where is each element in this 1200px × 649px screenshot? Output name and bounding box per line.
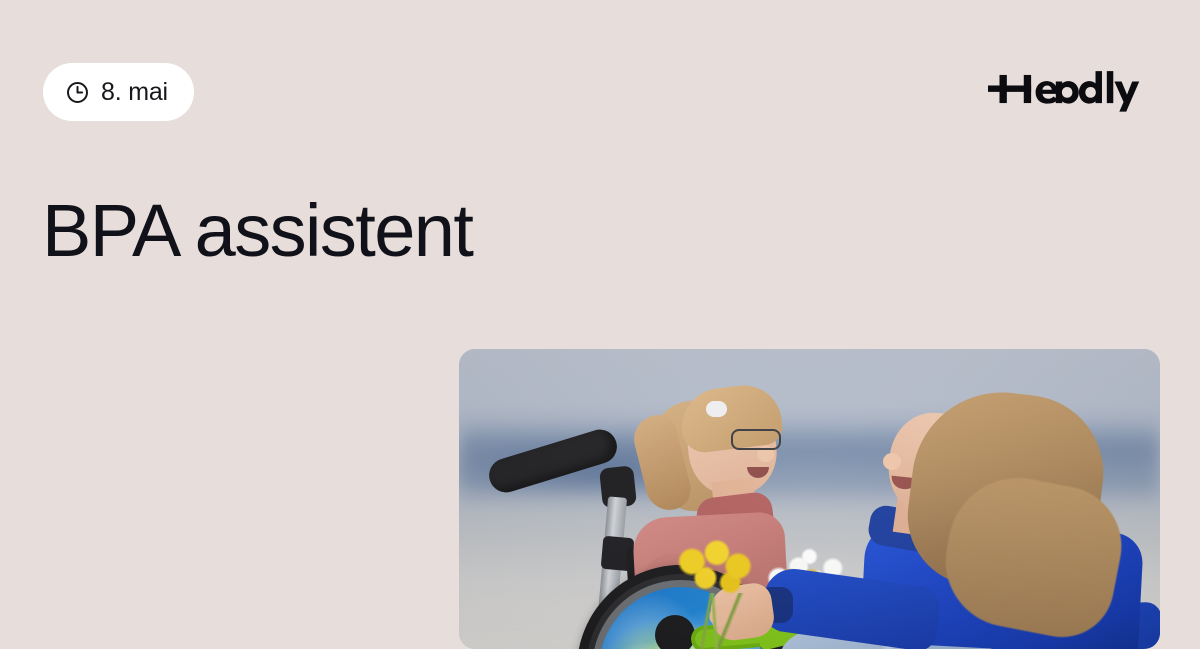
headly-logo[interactable] (988, 66, 1162, 112)
page-title: BPA assistent (42, 193, 472, 268)
date-label: 8. mai (101, 80, 168, 105)
woman-nose (883, 453, 901, 470)
girl-glasses (731, 429, 781, 450)
date-badge: 8. mai (43, 63, 194, 121)
headly-wordmark-icon (988, 66, 1162, 112)
yellow-dandelions (667, 535, 763, 609)
clock-icon (65, 80, 90, 105)
article-image-card (459, 349, 1160, 649)
girl-hair-tie (706, 401, 727, 417)
